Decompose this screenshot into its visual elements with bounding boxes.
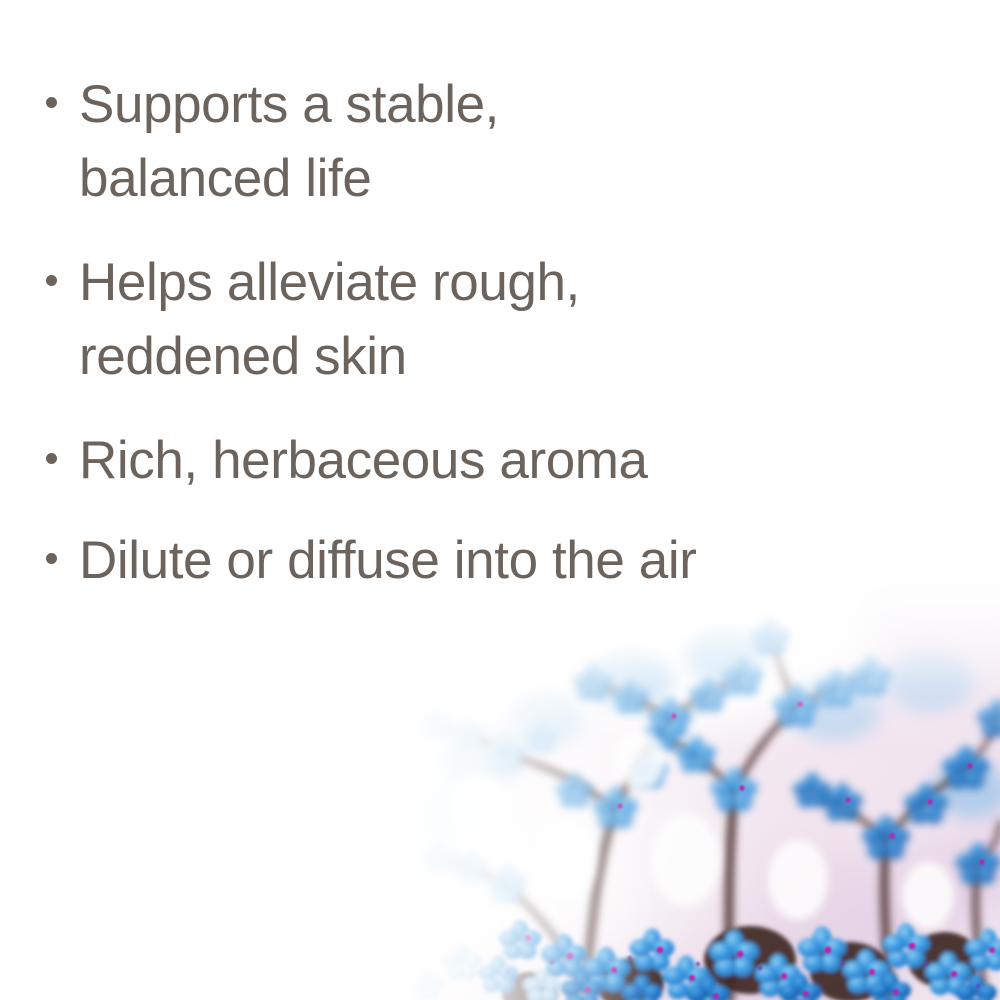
bullet-dot-icon [46,97,57,108]
benefit-text: Dilute or diffuse into the air [79,524,696,598]
bullet-dot-icon [46,275,57,286]
benefit-text: Helps alleviate rough, reddened skin [79,246,580,394]
blue-statice-flowers-photo [330,560,1000,1000]
bullet-dot-icon [46,553,57,564]
list-item: Dilute or diffuse into the air [46,524,696,598]
list-item: Rich, herbaceous aroma [46,424,648,498]
bullet-dot-icon [46,453,57,464]
list-item: Helps alleviate rough, reddened skin [46,246,580,394]
list-item: Supports a stable, balanced life [46,68,499,216]
product-benefits-graphic: Supports a stable, balanced life Helps a… [0,0,1000,1000]
benefit-text: Supports a stable, balanced life [79,68,499,216]
benefit-text: Rich, herbaceous aroma [79,424,648,498]
